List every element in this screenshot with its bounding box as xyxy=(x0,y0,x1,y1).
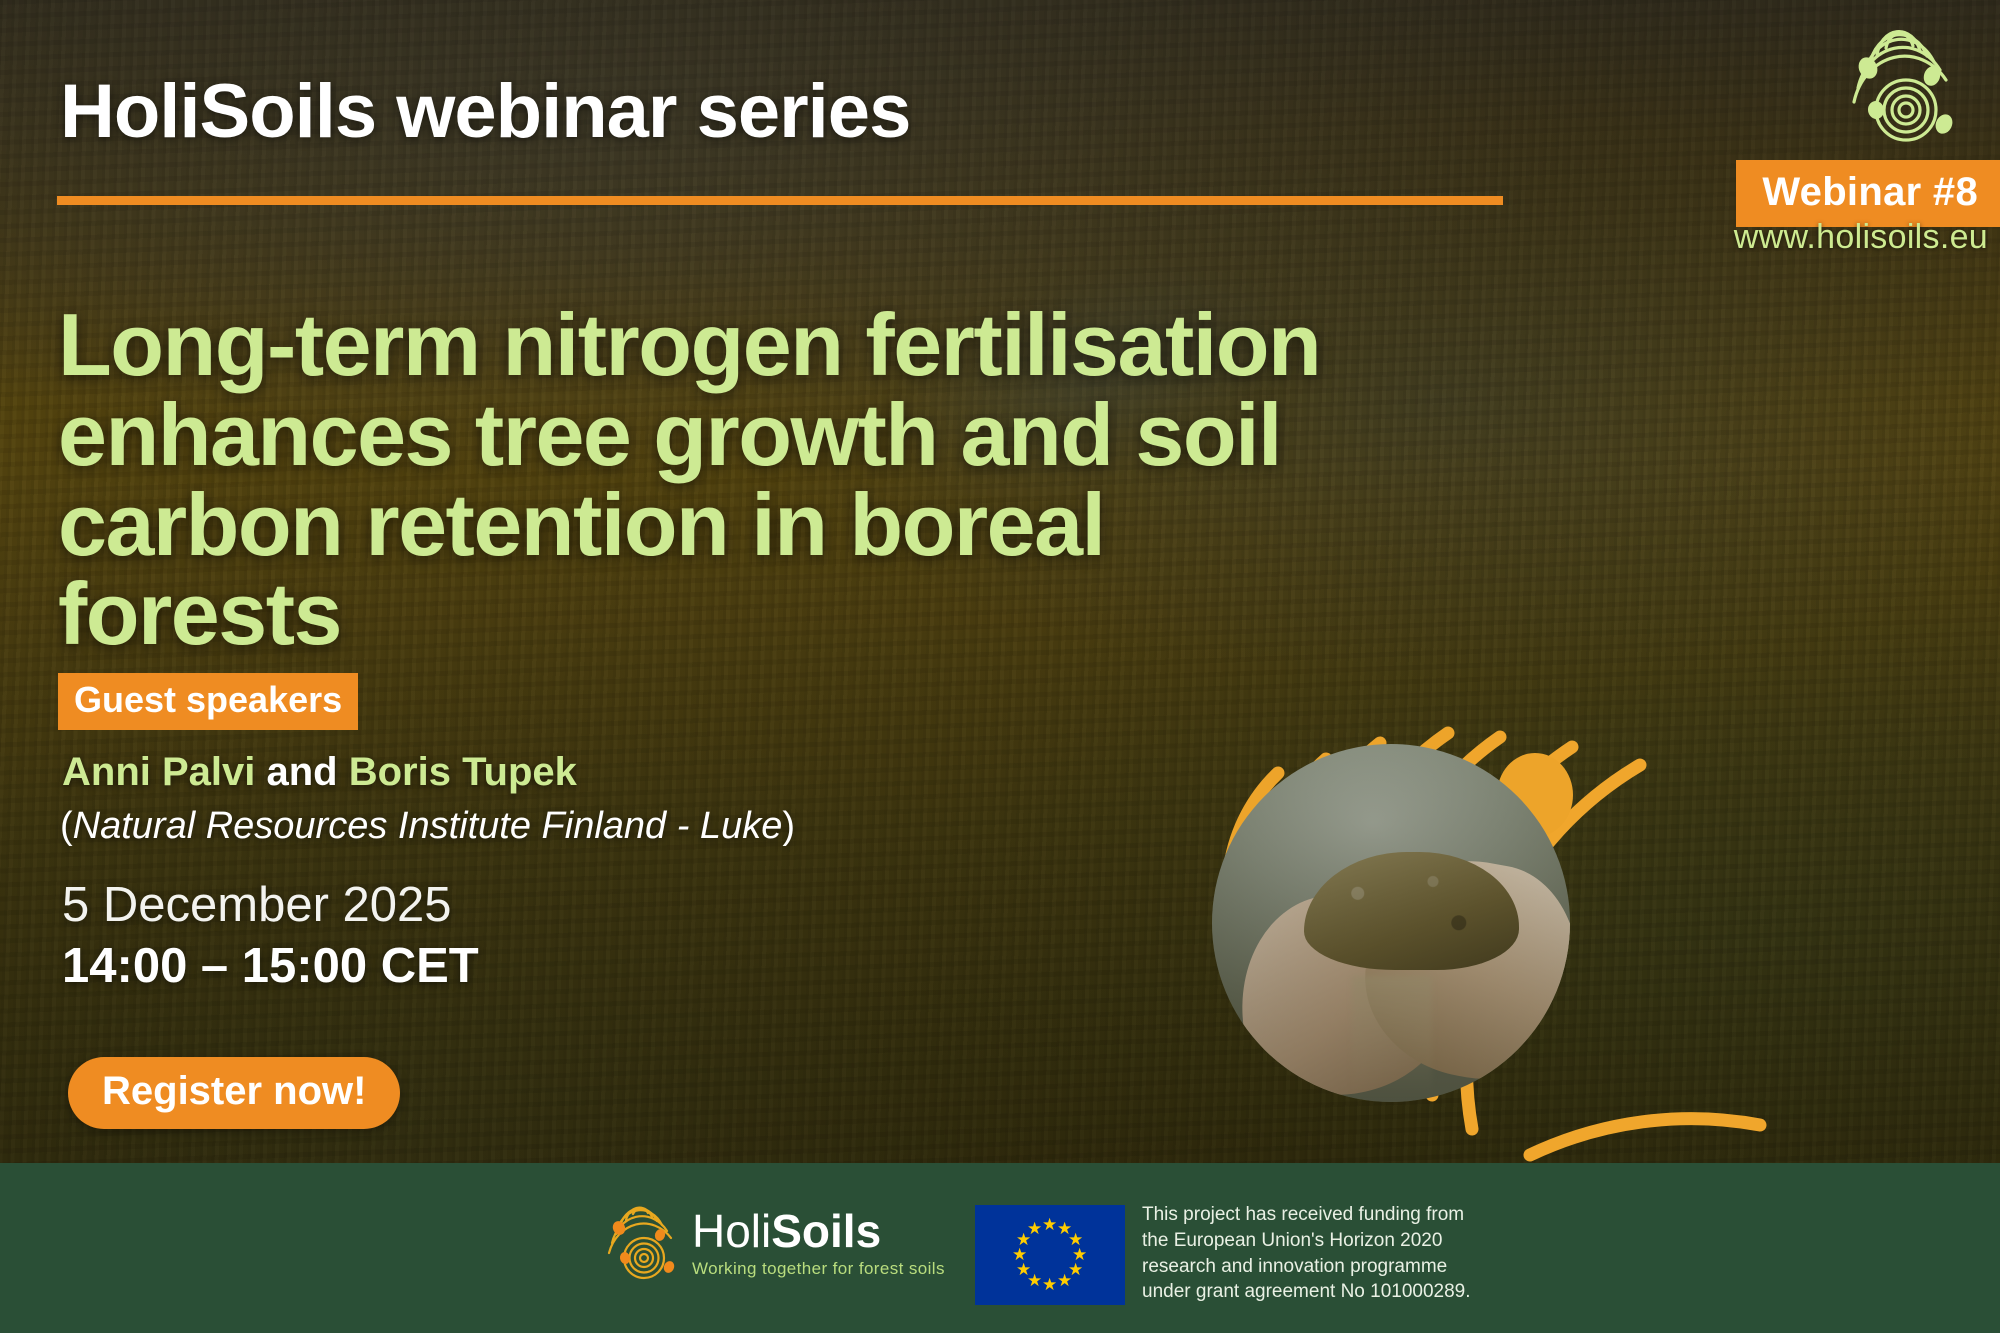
speakers-conjunction: and xyxy=(255,750,348,794)
fingerprint-icon xyxy=(1834,18,1964,158)
event-date: 5 December 2025 xyxy=(62,877,452,933)
website-url[interactable]: www.holisoils.eu xyxy=(1734,218,1988,257)
logo-wordmark: HoliSoils xyxy=(692,1208,945,1254)
affiliation-close-paren: ) xyxy=(782,805,795,847)
eu-star-icon: ★ xyxy=(1057,1272,1072,1289)
event-time: 14:00 – 15:00 CET xyxy=(62,938,479,994)
register-button[interactable]: Register now! xyxy=(68,1057,400,1129)
speaker-names: Anni Palvi and Boris Tupek xyxy=(62,750,577,795)
eu-funding-line-1: This project has received funding from xyxy=(1142,1202,1471,1228)
series-title: HoliSoils webinar series xyxy=(60,68,910,155)
eu-flag-icon: ★★★★★★★★★★★★ xyxy=(975,1205,1125,1305)
eu-star-icon: ★ xyxy=(1027,1220,1042,1237)
logo-name-light: Holi xyxy=(692,1205,771,1257)
speaker-name-2: Boris Tupek xyxy=(349,750,577,794)
header-divider xyxy=(57,196,1503,205)
title-line-2: enhances tree growth and soil xyxy=(58,390,1358,480)
affiliation-open-paren: ( xyxy=(60,805,73,847)
title-line-1: Long-term nitrogen fertilisation xyxy=(58,300,1358,390)
page-title: Long-term nitrogen fertilisation enhance… xyxy=(58,300,1358,659)
eu-star-icon: ★ xyxy=(1042,1216,1057,1233)
webinar-number-badge: Webinar #8 xyxy=(1736,160,2000,227)
eu-funding-line-4: under grant agreement No 101000289. xyxy=(1142,1279,1471,1305)
speaker-affiliation: (Natural Resources Institute Finland - L… xyxy=(60,805,795,848)
logo-tagline: Working together for forest soils xyxy=(692,1259,945,1279)
eu-funding-line-3: research and innovation programme xyxy=(1142,1254,1471,1280)
holisoils-logo: HoliSoils Working together for forest so… xyxy=(600,1198,945,1288)
logo-name-bold: Soils xyxy=(771,1205,881,1257)
webinar-poster: HoliSoils webinar series Webinar #8 www.… xyxy=(0,0,2000,1333)
eu-funding-line-2: the European Union's Horizon 2020 xyxy=(1142,1228,1471,1254)
guest-speakers-label: Guest speakers xyxy=(58,673,358,730)
eu-star-icon: ★ xyxy=(1042,1276,1057,1293)
soil-hands-photo xyxy=(1212,744,1570,1102)
title-line-3: carbon retention in boreal forests xyxy=(58,480,1358,660)
affiliation-text: Natural Resources Institute Finland - Lu… xyxy=(73,805,783,847)
logo-fingerprint-icon xyxy=(600,1198,678,1288)
speaker-name-1: Anni Palvi xyxy=(62,750,255,794)
photo-shading xyxy=(1212,744,1570,1102)
logo-text-block: HoliSoils Working together for forest so… xyxy=(692,1208,945,1279)
eu-funding-statement: This project has received funding from t… xyxy=(1142,1202,1471,1305)
